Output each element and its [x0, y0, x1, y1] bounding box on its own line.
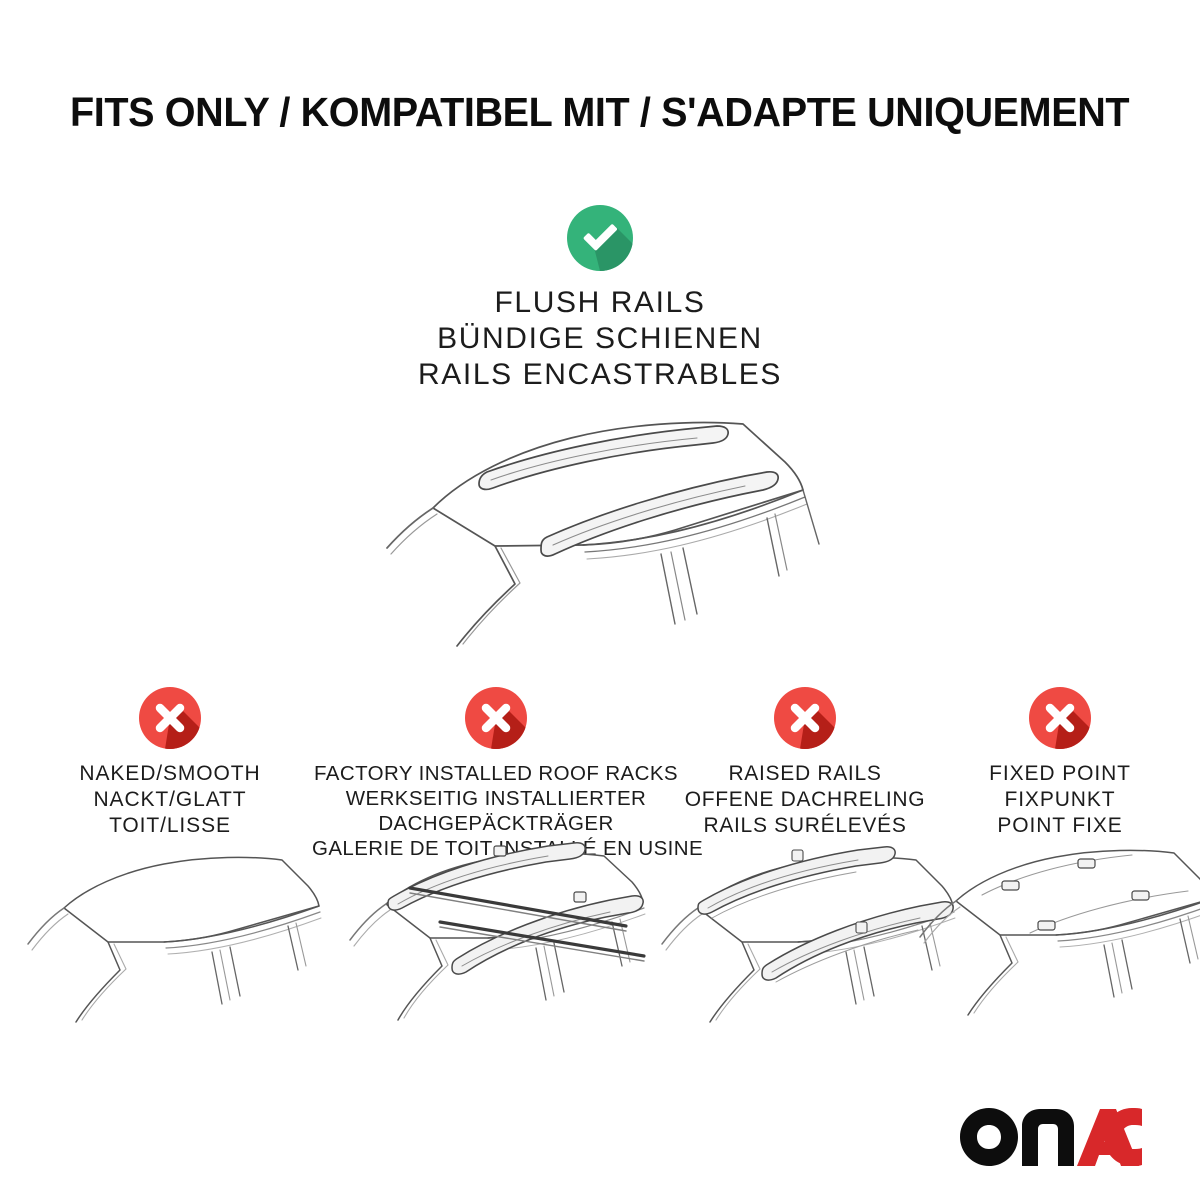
option-label-de: FIXPUNKT — [935, 787, 1185, 813]
car-roof-fixed-point-svg — [910, 835, 1200, 1025]
car-roof-factory-racks-svg — [336, 830, 656, 1028]
option-label-en: FACTORY INSTALLED ROOF RACKS — [312, 761, 680, 786]
incompatible-options: NAKED/SMOOTH NACKT/GLATT TOIT/LISSE — [0, 680, 1200, 1140]
x-circle-icon-svg — [139, 687, 201, 749]
option-fixed-point-labels: FIXED POINT FIXPUNKT POINT FIXE — [935, 761, 1185, 839]
compatible-label-fr: RAILS ENCASTRABLES — [0, 357, 1200, 393]
x-circle-icon-svg — [465, 687, 527, 749]
omac-logo-letter-m — [1022, 1109, 1074, 1166]
option-label-de: NACKT/GLATT — [40, 787, 300, 813]
compatible-labels: FLUSH RAILS BÜNDIGE SCHIENEN RAILS ENCAS… — [0, 285, 1200, 393]
check-circle-icon-svg — [567, 205, 633, 271]
omac-logo-letter-o — [960, 1108, 1018, 1166]
x-circle-icon-svg — [774, 687, 836, 749]
omac-logo — [960, 1108, 1142, 1166]
option-label-en: RAISED RAILS — [680, 761, 930, 787]
compatible-label-de: BÜNDIGE SCHIENEN — [0, 321, 1200, 357]
car-roof-fixed-point-illustration — [910, 835, 1200, 1025]
x-circle-icon — [465, 687, 527, 749]
x-circle-icon-svg — [1029, 687, 1091, 749]
option-naked-smooth: NAKED/SMOOTH NACKT/GLATT TOIT/LISSE — [40, 680, 300, 839]
option-factory-installed-roof-racks: FACTORY INSTALLED ROOF RACKS WERKSEITIG … — [312, 680, 680, 861]
x-circle-icon — [139, 687, 201, 749]
car-roof-flush-rails-svg — [375, 398, 855, 648]
option-label-de: OFFENE DACHRELING — [680, 787, 930, 813]
option-raised-rails-labels: RAISED RAILS OFFENE DACHRELING RAILS SUR… — [680, 761, 930, 839]
compatible-label-en: FLUSH RAILS — [0, 285, 1200, 321]
car-roof-naked-illustration — [20, 848, 320, 1028]
check-circle-icon — [567, 205, 633, 271]
car-roof-factory-racks-illustration — [336, 830, 656, 1028]
x-circle-icon — [1029, 687, 1091, 749]
option-raised-rails: RAISED RAILS OFFENE DACHRELING RAILS SUR… — [680, 680, 930, 839]
option-label-en: FIXED POINT — [935, 761, 1185, 787]
option-label-de-1: WERKSEITIG INSTALLIERTER — [312, 786, 680, 811]
car-roof-naked-svg — [20, 848, 320, 1028]
car-roof-flush-rails-illustration — [375, 398, 855, 648]
compatible-section: FLUSH RAILS BÜNDIGE SCHIENEN RAILS ENCAS… — [0, 205, 1200, 393]
x-circle-icon — [774, 687, 836, 749]
option-fixed-point: FIXED POINT FIXPUNKT POINT FIXE — [935, 680, 1185, 839]
page-title-text: FITS ONLY / KOMPATIBEL MIT / S'ADAPTE UN… — [70, 88, 1103, 136]
page-title: FITS ONLY / KOMPATIBEL MIT / S'ADAPTE UN… — [70, 88, 1140, 136]
omac-logo-svg — [960, 1108, 1142, 1166]
option-naked-smooth-labels: NAKED/SMOOTH NACKT/GLATT TOIT/LISSE — [40, 761, 300, 839]
option-label-fr: TOIT/LISSE — [40, 813, 300, 839]
option-label-en: NAKED/SMOOTH — [40, 761, 300, 787]
